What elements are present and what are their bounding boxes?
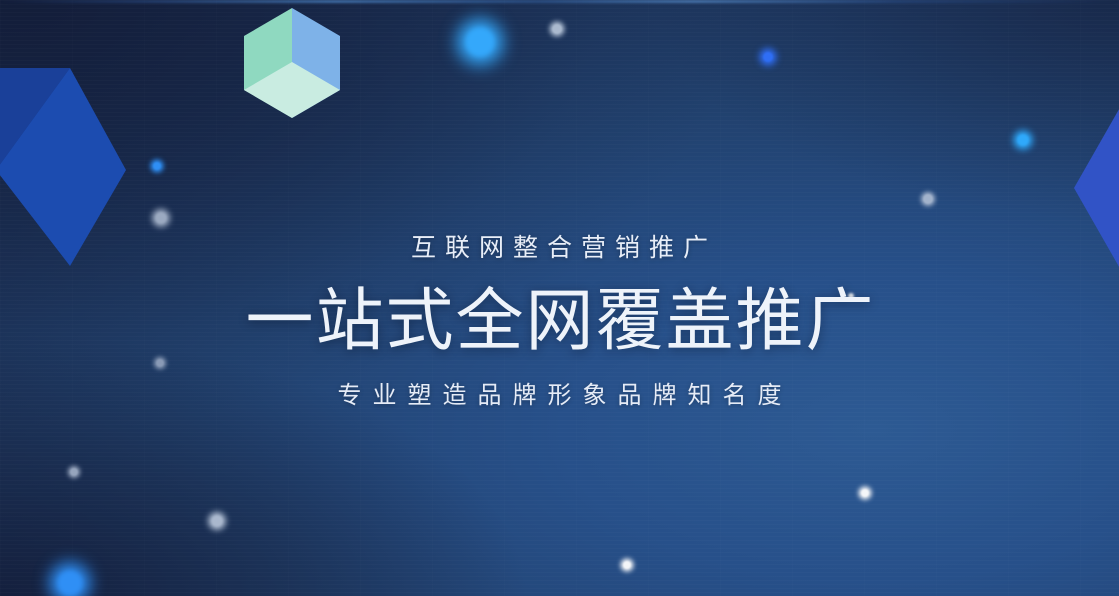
particle-dot xyxy=(57,570,83,596)
particle-dot xyxy=(861,489,869,497)
particle-dot xyxy=(70,468,78,476)
particle-dot xyxy=(623,561,631,569)
banner-headline: 一站式全网覆盖推广 xyxy=(0,281,1119,361)
banner-eyebrow: 互联网整合营销推广 xyxy=(0,231,1119,265)
isometric-cube-icon xyxy=(236,2,348,124)
particle-dot xyxy=(1017,134,1029,146)
particle-dot xyxy=(552,24,562,34)
banner-subline: 专业塑造品牌形象品牌知名度 xyxy=(0,379,1119,413)
particle-dot xyxy=(153,162,161,170)
particle-dot xyxy=(155,212,167,224)
particle-dot xyxy=(923,194,933,204)
particle-dot xyxy=(763,52,773,62)
particle-dot xyxy=(465,27,495,57)
hero-banner: 互联网整合营销推广 一站式全网覆盖推广 专业塑造品牌形象品牌知名度 xyxy=(0,0,1119,596)
particle-dot xyxy=(211,515,223,527)
top-edge-glow xyxy=(0,0,1119,3)
